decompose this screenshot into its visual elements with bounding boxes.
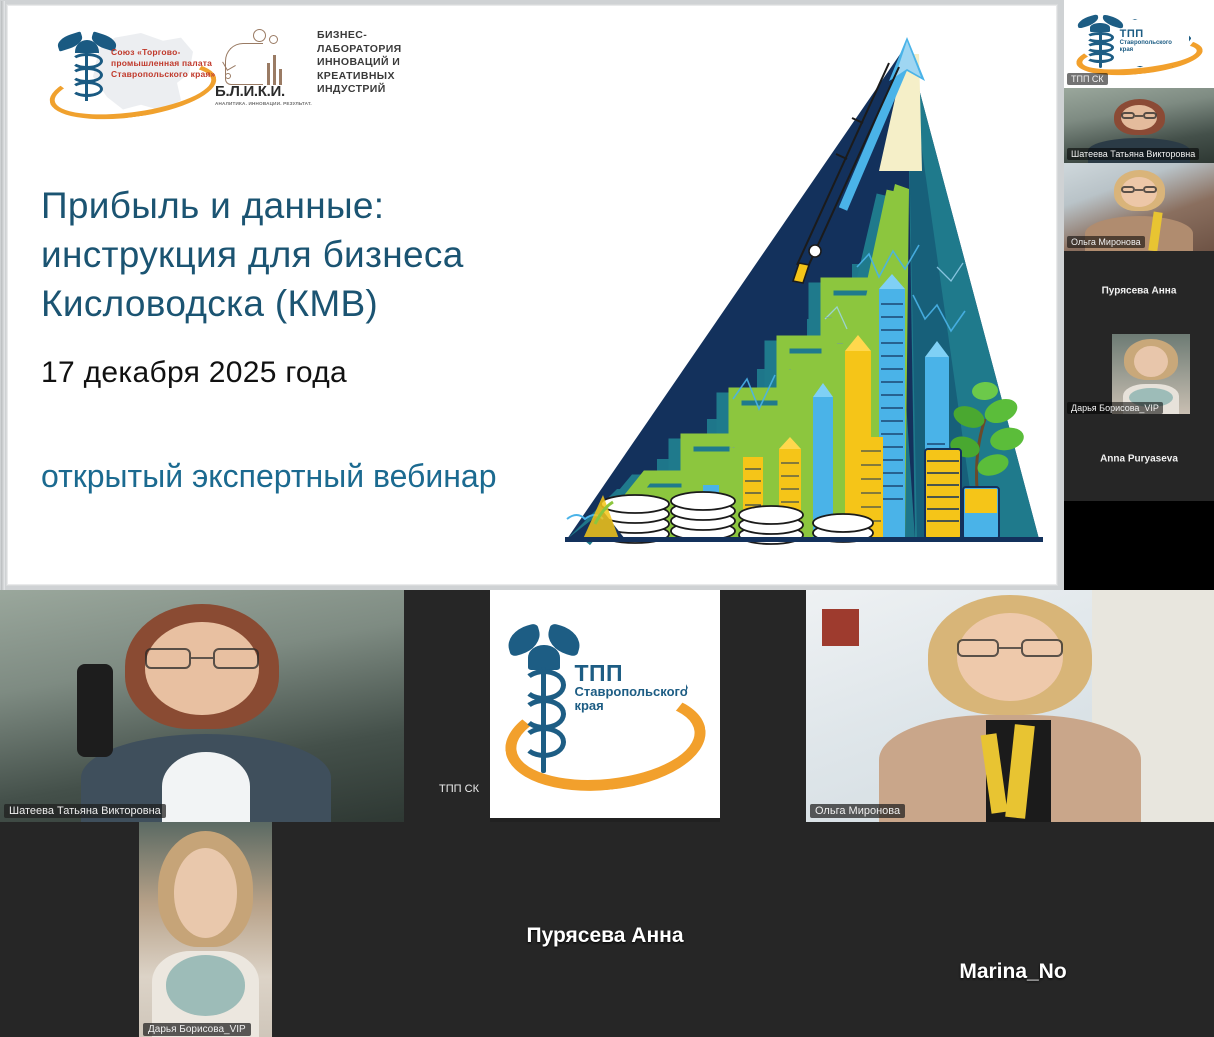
grid-tile-mironova[interactable]: Ольга Миронова [806,590,1214,822]
slide-title-block: Прибыль и данные: инструкция для бизнеса… [41,181,561,390]
bliki-logo-title: Б.Л.И.К.И. [215,83,319,100]
filmstrip-label: ТПП СК [1067,73,1108,85]
bliki-logo-tagline: АНАЛИТИКА. ИННОВАЦИИ. РЕЗУЛЬТАТ. [215,101,325,106]
tpp-union-logo: Союз «Торгово- промышленная палата Ставр… [49,29,221,121]
tpp-logo-line2: Ставропольского [574,685,687,699]
grid-tile-label: Дарья Борисова_VIP [143,1023,251,1036]
filmstrip-tile-anna-puryaseva[interactable]: Anna Puryaseva [1064,417,1214,501]
tpp-thumb-line1: ТПП [1120,29,1172,41]
grid-tile-label: Ольга Миронова [810,804,905,818]
tpp-logo-large: ТПП Ставропольского края [496,596,714,812]
participant-filmstrip[interactable]: ТПП Ставропольского края ТПП СК Шатеева … [1064,0,1214,590]
slide-subtitle: открытый экспертный вебинар [41,451,561,502]
svg-text:-: - [789,367,791,373]
filmstrip-tile-tpp-sk[interactable]: ТПП Ставропольского края ТПП СК [1064,0,1214,88]
slide-date: 17 декабря 2025 года [41,356,561,390]
grid-tile-label-puryaseva: Пурясева Анна [526,924,683,948]
filmstrip-label: Ольга Миронова [1067,236,1145,248]
bliki-logo: Б.Л.И.К.И. АНАЛИТИКА. ИННОВАЦИИ. РЕЗУЛЬТ… [215,25,415,125]
filmstrip-tile-empty[interactable] [1064,501,1214,590]
filmstrip-label: Шатеева Татьяна Викторовна [1067,148,1199,160]
filmstrip-tile-mironova[interactable]: Ольга Миронова [1064,163,1214,251]
grid-tile-gap[interactable] [720,590,806,822]
tpp-logo-line3: края [574,699,687,713]
slide-title: Прибыль и данные: инструкция для бизнеса… [41,181,561,328]
tpp-thumb-line2: Ставропольского [1120,40,1172,46]
head-lightbulb-icon [223,29,285,87]
grid-tile-label: ТПП СК [434,782,484,796]
svg-text:––: –– [825,315,832,321]
filmstrip-label: Дарья Борисова_VIP [1067,402,1163,414]
filmstrip-tile-borisova[interactable]: Дарья Борисова_VIP [1064,331,1214,417]
grid-tile-borisova[interactable]: Дарья Борисова_VIP [139,822,272,1037]
grid-tile-label-marina: Marina_No [959,960,1066,984]
filmstrip-tile-puryaseva[interactable]: Пурясева Анна [1064,251,1214,331]
grid-tile-tpp-logo[interactable]: ТПП Ставропольского края [490,590,720,818]
caduceus-icon [59,31,115,105]
filmstrip-tile-shateeva[interactable]: Шатеева Татьяна Викторовна [1064,88,1214,163]
video-conference-window: Союз «Торгово- промышленная палата Ставр… [0,0,1214,1037]
bliki-logo-expansion: БИЗНЕС-ЛАБОРАТОРИЯ ИННОВАЦИЙ И КРЕАТИВНЫ… [317,29,417,97]
screen-share-area: Союз «Торгово- промышленная палата Ставр… [0,0,1064,590]
filmstrip-label: Пурясева Анна [1098,285,1181,298]
svg-text:—: — [837,341,843,347]
tpp-thumb-line3: края [1120,47,1172,53]
grid-tile-tpp-sk-dark[interactable]: ТПП СК [404,590,490,822]
grid-row-secondary: Дарья Борисова_VIP Пурясева Анна Marina_… [0,822,1214,1037]
participant-grid: Шатеева Татьяна Викторовна ТПП СК ТПП Ст… [0,590,1214,1037]
tpp-union-logo-text: Союз «Торгово- промышленная палата Ставр… [111,47,221,80]
filmstrip-label: Anna Puryaseva [1096,453,1182,466]
presentation-slide: Союз «Торгово- промышленная палата Ставр… [6,4,1058,586]
grid-tile-label: Шатеева Татьяна Викторовна [4,804,166,818]
growth-mountain-chart-illustration: ––— -- - [507,19,1047,579]
svg-text:- -: - - [729,445,735,451]
grid-tile-shateeva[interactable]: Шатеева Татьяна Викторовна [0,590,404,822]
tpp-logo-line1: ТПП [574,661,687,685]
